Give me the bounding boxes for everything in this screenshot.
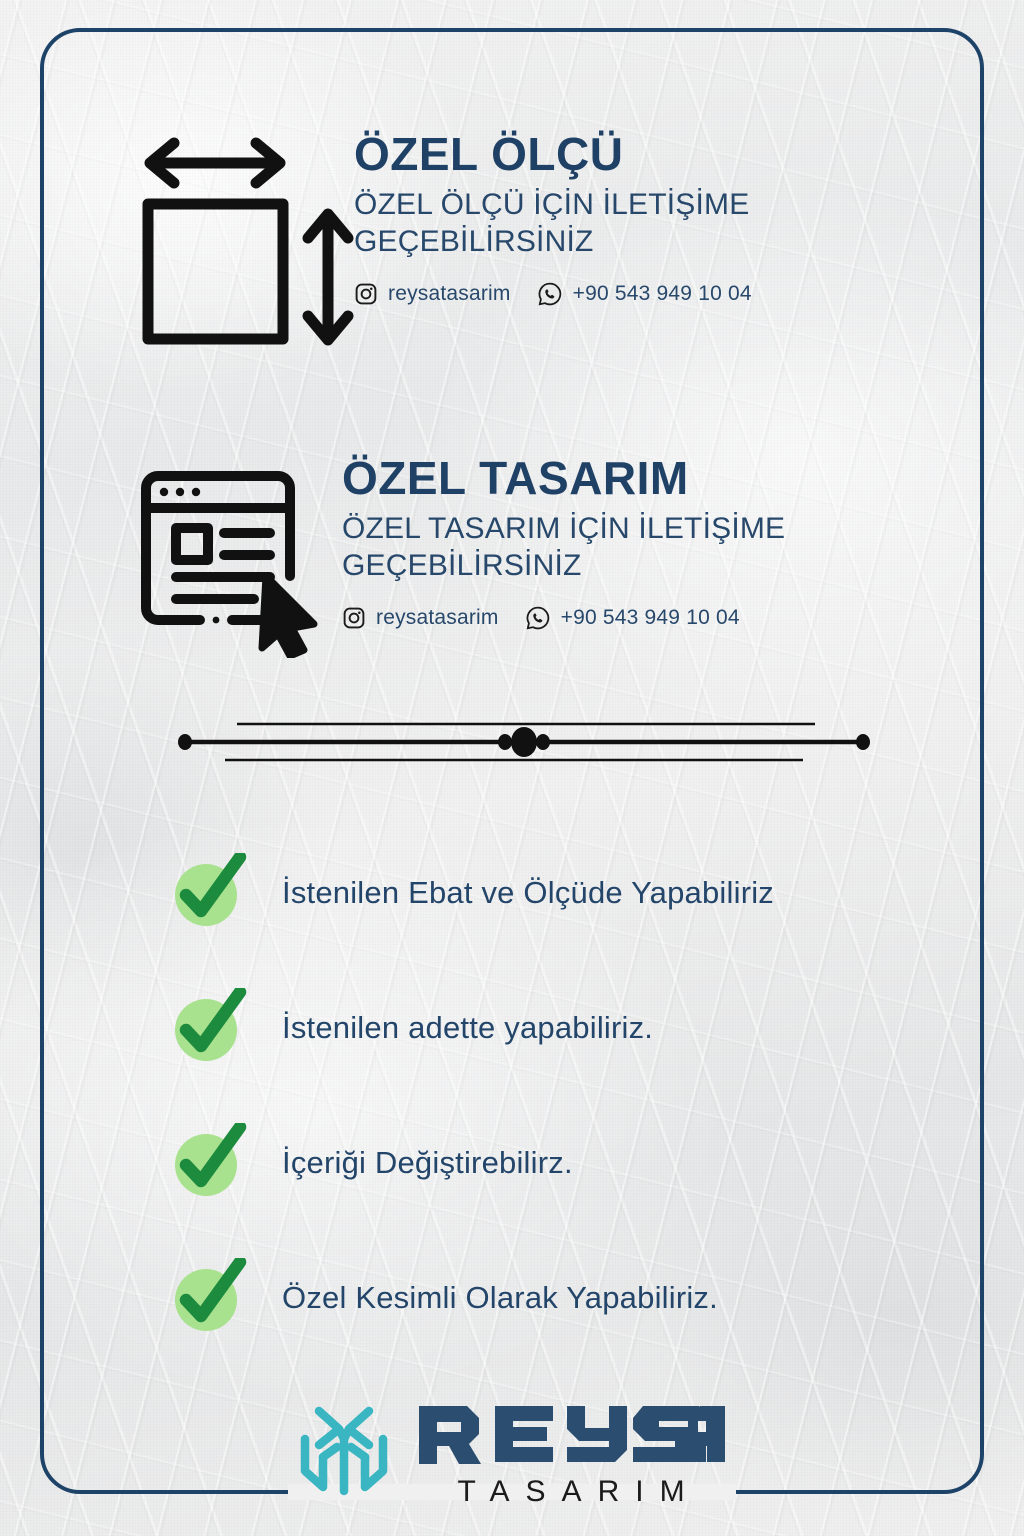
list-item-label: İstenilen Ebat ve Ölçüde Yapabiliriz xyxy=(282,874,774,911)
whatsapp-icon xyxy=(537,281,563,307)
list-item-label: Özel Kesimli Olarak Yapabiliriz. xyxy=(282,1279,718,1316)
list-item: Özel Kesimli Olarak Yapabiliriz. xyxy=(168,1243,948,1353)
contact-instagram-label: reysatasarim xyxy=(388,282,511,306)
green-check-icon xyxy=(168,1123,248,1203)
feature-title: ÖZEL ÖLÇÜ xyxy=(354,130,894,180)
instagram-icon xyxy=(342,606,366,630)
logo-wordmark xyxy=(415,1402,727,1473)
contact-whatsapp[interactable]: +90 543 949 10 04 xyxy=(525,605,740,631)
instagram-icon xyxy=(354,282,378,306)
list-item: İstenilen Ebat ve Ölçüde Yapabiliriz xyxy=(168,838,948,948)
feature-block-ozel-tasarim: ÖZEL TASARIM ÖZEL TASARIM İÇİN İLETİŞİME… xyxy=(128,440,922,663)
list-item-label: İçeriği Değiştirebilirz. xyxy=(282,1144,573,1181)
logo-text-group: TASARIM xyxy=(415,1402,727,1509)
contact-whatsapp-label: +90 543 949 10 04 xyxy=(561,606,740,630)
reysa-hex-mark-icon xyxy=(297,1401,397,1510)
feature-subtitle: ÖZEL ÖLÇÜ İÇİN İLETİŞİME GEÇEBİLİRSİNİZ xyxy=(354,186,894,262)
contact-instagram-label: reysatasarim xyxy=(376,606,499,630)
feature-text-ozel-tasarim: ÖZEL TASARIM ÖZEL TASARIM İÇİN İLETİŞİME… xyxy=(342,440,922,631)
feature-block-ozel-olcu: ÖZEL ÖLÇÜ ÖZEL ÖLÇÜ İÇİN İLETİŞİME GEÇEB… xyxy=(128,126,894,361)
green-check-icon xyxy=(168,988,248,1068)
web-design-cursor-icon xyxy=(128,440,342,663)
poster-content: ÖZEL ÖLÇÜ ÖZEL ÖLÇÜ İÇİN İLETİŞİME GEÇEB… xyxy=(0,0,1024,1536)
feature-title: ÖZEL TASARIM xyxy=(342,454,922,504)
contact-whatsapp[interactable]: +90 543 949 10 04 xyxy=(537,281,752,307)
poster-canvas: ÖZEL ÖLÇÜ ÖZEL ÖLÇÜ İÇİN İLETİŞİME GEÇEB… xyxy=(0,0,1024,1536)
green-check-icon xyxy=(168,1258,248,1338)
dimensions-icon xyxy=(128,126,354,361)
feature-subtitle: ÖZEL TASARIM İÇİN İLETİŞİME GEÇEBİLİRSİN… xyxy=(342,510,922,586)
contact-row: reysatasarim +90 543 949 10 04 xyxy=(354,281,894,307)
ornamental-divider xyxy=(175,712,875,772)
checklist: İstenilen Ebat ve Ölçüde Yapabiliriz İst… xyxy=(168,838,948,1353)
contact-instagram[interactable]: reysatasarim xyxy=(354,282,511,306)
contact-row: reysatasarim +90 543 949 10 04 xyxy=(342,605,922,631)
list-item: İstenilen adette yapabiliriz. xyxy=(168,973,948,1083)
logo-tagline: TASARIM xyxy=(441,1475,700,1509)
whatsapp-icon xyxy=(525,605,551,631)
green-check-icon xyxy=(168,853,248,933)
contact-instagram[interactable]: reysatasarim xyxy=(342,606,499,630)
contact-whatsapp-label: +90 543 949 10 04 xyxy=(573,282,752,306)
list-item-label: İstenilen adette yapabiliriz. xyxy=(282,1009,653,1046)
feature-text-ozel-olcu: ÖZEL ÖLÇÜ ÖZEL ÖLÇÜ İÇİN İLETİŞİME GEÇEB… xyxy=(354,126,894,307)
brand-logo: TASARIM xyxy=(0,1401,1024,1510)
list-item: İçeriği Değiştirebilirz. xyxy=(168,1108,948,1218)
